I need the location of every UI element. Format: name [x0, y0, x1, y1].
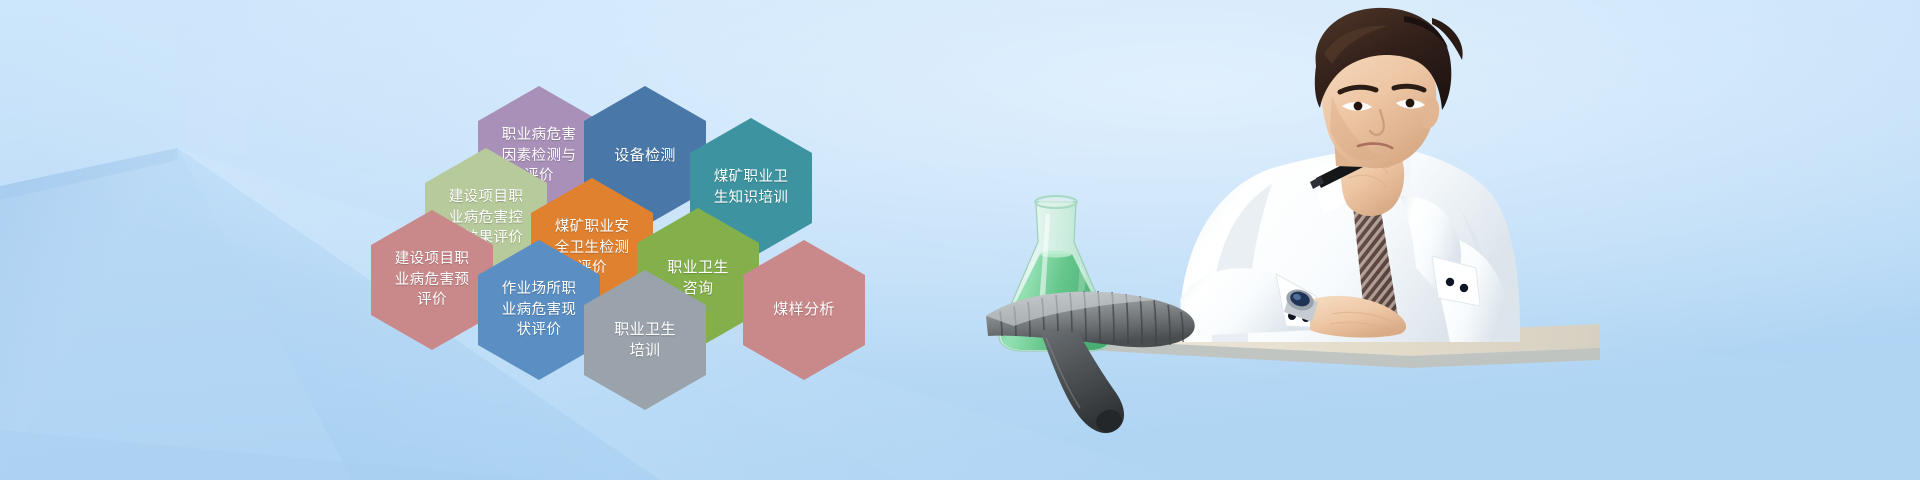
service-hexagon-cluster: 职业病危害 因素检测与 评价 设备检测 煤矿职业卫 生知识培训 建设项目职 业病… — [398, 58, 938, 388]
background-facets — [0, 0, 1920, 480]
hexagon-label: 设备检测 — [614, 145, 676, 166]
lab-technician-photo — [980, 0, 1600, 480]
hexagon-label: 作业场所职 业病危害现 状评价 — [502, 279, 577, 341]
hexagon-label: 建设项目职 业病危害预 评价 — [395, 249, 470, 311]
hexagon-label: 职业卫生 培训 — [614, 319, 676, 362]
hexagon-coal-sample-analysis[interactable]: 煤样分析 — [743, 240, 865, 380]
banner-root: 职业病危害 因素检测与 评价 设备检测 煤矿职业卫 生知识培训 建设项目职 业病… — [0, 0, 1920, 480]
hexagon-label: 煤样分析 — [773, 299, 835, 320]
hexagon-label: 煤矿职业卫 生知识培训 — [714, 167, 789, 208]
